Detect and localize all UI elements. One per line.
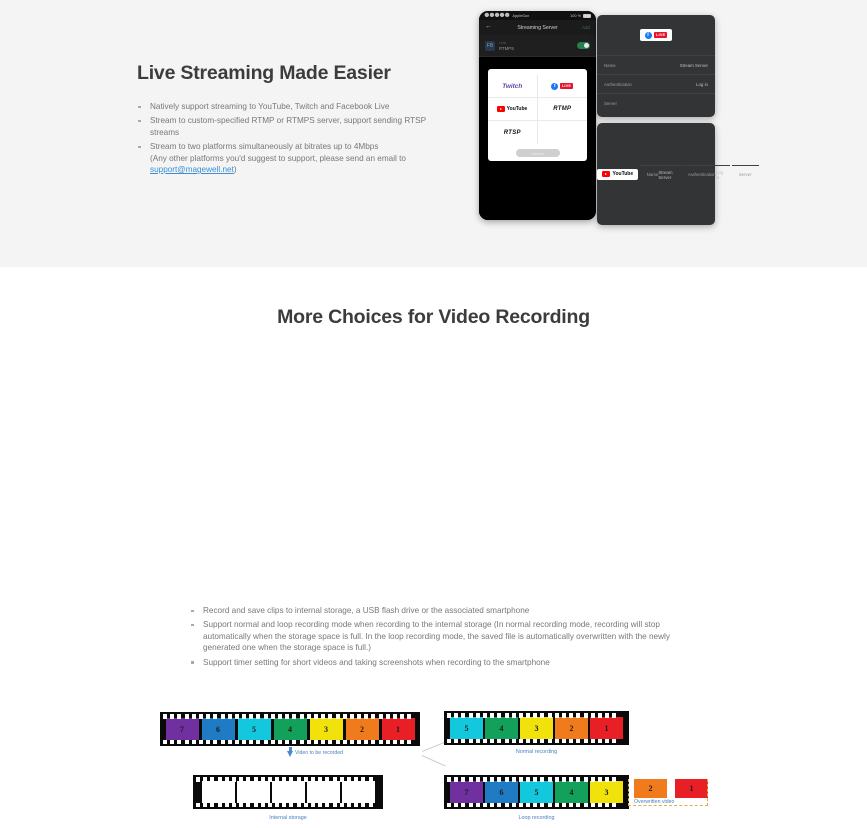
film-frame: 5 — [450, 717, 483, 739]
perforation-hole — [275, 803, 279, 808]
perforation-hole — [304, 803, 308, 808]
page-title: Live Streaming Made Easier — [137, 62, 457, 85]
perforation-hole — [232, 777, 236, 782]
film-frame: 7 — [450, 781, 483, 803]
perforation-hole — [249, 740, 253, 745]
film-frame: 2 — [346, 718, 379, 740]
film-frame: 3 — [590, 781, 623, 803]
perforation-hole — [533, 803, 537, 808]
perforation-hole — [271, 740, 275, 745]
perforation-hole — [354, 803, 358, 808]
perforation-hole — [533, 713, 537, 718]
facebook-settings-card: f LIVE Name Stream Server Authentication… — [597, 15, 715, 117]
internal-storage-caption: Internal storage — [193, 815, 383, 821]
youtube-wordmark: YouTube — [507, 106, 528, 112]
perforation-hole — [350, 714, 354, 719]
perforation-hole — [297, 803, 301, 808]
perforation-hole — [364, 740, 368, 745]
perforation-hole — [569, 739, 573, 744]
film-frame: 7 — [166, 718, 199, 740]
perforation-hole — [325, 777, 329, 782]
perforation-hole — [519, 713, 523, 718]
perforation-hole — [548, 739, 552, 744]
perforation-hole — [505, 739, 509, 744]
perforation-hole — [569, 713, 573, 718]
perforation-hole — [512, 777, 516, 782]
carrier-label: AppleGun — [513, 14, 530, 18]
perforation-hole — [328, 740, 332, 745]
battery-icon — [583, 14, 591, 18]
card-row-value: Stream Server — [680, 63, 708, 68]
perforation-hole — [228, 740, 232, 745]
perforation-hole — [246, 803, 250, 808]
perforation-hole — [476, 803, 480, 808]
perforation-hole — [469, 777, 473, 782]
facebook-icon: f — [551, 83, 558, 90]
video-recording-bullet-list: Record and save clips to internal storag… — [190, 605, 680, 671]
perforation-hole — [285, 714, 289, 719]
facebook-icon: FB — [485, 41, 495, 51]
platform-option-twitch[interactable]: Twitch — [488, 75, 538, 98]
perforation-hole — [256, 714, 260, 719]
perforation-hole — [461, 803, 465, 808]
facebook-live-logo: f LIVE — [551, 83, 573, 90]
perforation-hole — [400, 714, 404, 719]
perforation-hole — [357, 740, 361, 745]
normal-recording-film-strip: 54321 — [444, 711, 629, 745]
film-frame: 3 — [520, 717, 553, 739]
perforation-hole — [454, 713, 458, 718]
list-item: Support timer setting for short videos a… — [190, 657, 680, 668]
film-frame: 6 — [202, 718, 235, 740]
perforation-hole — [318, 803, 322, 808]
perforation-hole — [357, 714, 361, 719]
perforation-hole — [483, 713, 487, 718]
perforation-hole — [343, 714, 347, 719]
perforation-hole — [314, 740, 318, 745]
perforation-hole — [393, 740, 397, 745]
perforation-hole — [278, 740, 282, 745]
perforation-hole — [576, 739, 580, 744]
card-logo-facebook: f LIVE — [597, 15, 715, 55]
perforation-hole — [249, 714, 253, 719]
perforation-hole — [490, 777, 494, 782]
perforation-hole — [605, 713, 609, 718]
perforation-hole — [540, 777, 544, 782]
perforation-hole — [225, 803, 229, 808]
perforation-hole — [333, 777, 337, 782]
perforation-hole — [289, 777, 293, 782]
perforation-hole — [177, 714, 181, 719]
perforation-hole — [364, 714, 368, 719]
perforation-hole — [605, 739, 609, 744]
perforation-hole — [612, 803, 616, 808]
perforation-hole — [170, 714, 174, 719]
perforation-hole — [271, 714, 275, 719]
perforation-hole — [192, 714, 196, 719]
live-badge: LIVE — [654, 32, 667, 38]
perforation-hole — [239, 777, 243, 782]
perforation-hole — [605, 803, 609, 808]
perforation-hole — [354, 777, 358, 782]
platform-option-empty — [538, 121, 588, 144]
platform-picker-sheet: Twitch f LIVE YouTube — [488, 69, 587, 161]
perforation-hole — [289, 803, 293, 808]
platform-option-rtmp[interactable]: RTMP — [538, 98, 588, 121]
film-frame: 1 — [590, 717, 623, 739]
perforation-hole — [246, 777, 250, 782]
perforation-hole — [361, 777, 365, 782]
perforation-hole — [512, 803, 516, 808]
perforation-hole — [461, 713, 465, 718]
youtube-play-icon — [497, 106, 505, 112]
perforation-hole — [261, 777, 265, 782]
perforation-hole — [196, 777, 200, 782]
phone-body: Twitch f LIVE YouTube — [479, 57, 596, 220]
perforation-hole — [555, 739, 559, 744]
perforation-hole — [254, 803, 258, 808]
perforation-hole — [447, 739, 451, 744]
perforation-hole — [307, 740, 311, 745]
perforation-hole — [407, 714, 411, 719]
perforation-hole — [555, 777, 559, 782]
perforation-hole — [235, 714, 239, 719]
platform-option-facebook-live[interactable]: f LIVE — [538, 75, 588, 98]
perforation-hole — [598, 777, 602, 782]
perforation-hole — [282, 777, 286, 782]
phone-nav-bar: ← Streaming Server Add — [479, 20, 596, 35]
perforation-hole — [221, 740, 225, 745]
film-frame: 4 — [485, 717, 518, 739]
bullet-note-prefix: (Any other platforms you'd suggest to su… — [150, 154, 406, 163]
perforation-hole — [206, 714, 210, 719]
perforation-hole — [379, 714, 383, 719]
film-frame: 1 — [382, 718, 415, 740]
perforation-hole — [591, 739, 595, 744]
perforation-row-top — [444, 777, 629, 782]
perforation-hole — [576, 777, 580, 782]
loop-recording-film-strip: 76543 — [444, 775, 629, 809]
perforation-hole — [185, 714, 189, 719]
perforation-hole — [199, 714, 203, 719]
perforation-hole — [483, 803, 487, 808]
perforation-hole — [519, 803, 523, 808]
platform-picker-grid: Twitch f LIVE YouTube — [488, 75, 587, 144]
film-frame — [272, 781, 305, 803]
perforation-hole — [347, 803, 351, 808]
perforation-hole — [548, 713, 552, 718]
stream-target-row[interactable]: FB Live RTMPS — [479, 35, 596, 57]
recording-diagram: 7654321 Video to be recorded Internal st… — [0, 699, 867, 828]
card-row-name[interactable]: Name Stream Server — [640, 165, 680, 184]
card-logo-youtube: YouTube — [597, 154, 638, 194]
perforation-hole — [505, 803, 509, 808]
platform-option-rtsp[interactable]: RTSP — [488, 121, 538, 144]
youtube-settings-card: YouTube Name Stream Server Authenticatio… — [597, 123, 715, 225]
perforation-hole — [476, 713, 480, 718]
perforation-hole — [490, 713, 494, 718]
film-frame — [202, 781, 235, 803]
perforation-hole — [476, 739, 480, 744]
perforation-hole — [461, 739, 465, 744]
perforation-hole — [203, 803, 207, 808]
youtube-logo: YouTube — [497, 106, 527, 112]
perforation-hole — [483, 739, 487, 744]
card-row-value[interactable]: Log in — [696, 82, 708, 87]
perforation-hole — [540, 739, 544, 744]
perforation-hole — [454, 803, 458, 808]
card-row-name[interactable]: Name Stream Server — [597, 55, 715, 74]
battery-percent-label: 100 % — [570, 14, 581, 18]
card-row-value[interactable]: Log in — [716, 170, 723, 180]
perforation-hole — [292, 714, 296, 719]
perforation-hole — [321, 714, 325, 719]
card-row-authentication[interactable]: Authentication Log in — [597, 74, 715, 93]
perforation-hole — [393, 714, 397, 719]
perforation-hole — [612, 739, 616, 744]
stream-target-subtitle: RTMPS — [499, 46, 514, 51]
nav-title: Streaming Server — [479, 25, 596, 31]
perforation-hole — [497, 777, 501, 782]
perforation-row-top — [444, 713, 629, 718]
stream-enable-toggle[interactable] — [577, 42, 590, 49]
perforation-hole — [379, 740, 383, 745]
facebook-live-logo-chip: f LIVE — [640, 29, 673, 41]
film-frame: 3 — [310, 718, 343, 740]
perforation-hole — [199, 740, 203, 745]
perforation-hole — [548, 803, 552, 808]
film-frame — [342, 781, 375, 803]
perforation-hole — [333, 803, 337, 808]
perforation-hole — [256, 740, 260, 745]
perforation-hole — [340, 803, 344, 808]
perforation-row-top — [160, 714, 420, 719]
perforation-hole — [206, 740, 210, 745]
connector-line-top — [422, 741, 446, 752]
film-frame: 4 — [274, 718, 307, 740]
youtube-wordmark: YouTube — [613, 171, 634, 177]
perforation-hole — [540, 713, 544, 718]
perforation-hole — [598, 739, 602, 744]
perforation-row-bottom — [193, 803, 383, 808]
perforation-hole — [490, 739, 494, 744]
perforation-hole — [386, 740, 390, 745]
perforation-hole — [469, 803, 473, 808]
perforation-hole — [282, 803, 286, 808]
video-recording-section: More Choices for Video Recording Record … — [0, 267, 867, 561]
perforation-hole — [340, 777, 344, 782]
perforation-hole — [297, 777, 301, 782]
arrow-label: Video to be recorded — [295, 750, 343, 756]
perforation-hole — [526, 777, 530, 782]
perforation-hole — [526, 713, 530, 718]
perforation-hole — [562, 713, 566, 718]
film-frame: 5 — [238, 718, 271, 740]
perforation-hole — [213, 740, 217, 745]
live-streaming-section: Live Streaming Made Easier Natively supp… — [0, 0, 867, 267]
perforation-hole — [497, 713, 501, 718]
perforation-hole — [569, 803, 573, 808]
perforation-hole — [192, 740, 196, 745]
perforation-hole — [533, 739, 537, 744]
perforation-hole — [325, 803, 329, 808]
perforation-hole — [505, 777, 509, 782]
perforation-hole — [584, 777, 588, 782]
film-frame: 4 — [555, 781, 588, 803]
live-badge: LIVE — [560, 83, 573, 89]
source-film-strip: 7654321 — [160, 712, 420, 746]
perforation-hole — [311, 777, 315, 782]
loop-recording-caption: Loop recording — [444, 815, 629, 821]
perforation-hole — [407, 740, 411, 745]
youtube-play-icon — [602, 171, 610, 177]
internal-storage-film-strip — [193, 775, 383, 809]
list-item: Stream to custom-specified RTMP or RTMPS… — [137, 115, 457, 138]
perforation-hole — [321, 740, 325, 745]
perforation-hole — [318, 777, 322, 782]
perforation-hole — [235, 740, 239, 745]
card-row-label: Authentication — [604, 82, 632, 87]
perforation-hole — [555, 803, 559, 808]
normal-recording-caption: Normal recording — [444, 749, 629, 755]
perforation-hole — [469, 739, 473, 744]
card-row-label: Name — [604, 63, 616, 68]
live-streaming-bullet-list: Natively support streaming to YouTube, T… — [137, 101, 457, 175]
card-row-server[interactable]: Server — [597, 93, 715, 112]
perforation-hole — [311, 803, 315, 808]
perforation-hole — [612, 777, 616, 782]
perforation-hole — [307, 714, 311, 719]
perforation-hole — [591, 803, 595, 808]
list-item: Natively support streaming to YouTube, T… — [137, 101, 457, 112]
phone-mockup: ••••• AppleGun 100 % ← Streaming Server … — [479, 11, 596, 220]
perforation-hole — [239, 803, 243, 808]
perforation-hole — [242, 740, 246, 745]
perforation-hole — [228, 714, 232, 719]
perforation-hole — [519, 777, 523, 782]
perforation-hole — [371, 740, 375, 745]
perforation-hole — [454, 739, 458, 744]
support-email-link[interactable]: support@magewell.net — [150, 165, 234, 174]
perforation-hole — [598, 713, 602, 718]
perforation-hole — [400, 740, 404, 745]
card-row-label: Server — [604, 101, 617, 106]
platform-option-youtube[interactable]: YouTube — [488, 98, 538, 121]
perforation-hole — [163, 740, 167, 745]
perforation-row-bottom — [444, 739, 629, 744]
facebook-icon: f — [645, 32, 652, 39]
perforation-hole — [225, 777, 229, 782]
youtube-logo-chip: YouTube — [597, 169, 638, 180]
perforation-hole — [562, 803, 566, 808]
perforation-hole — [490, 803, 494, 808]
perforation-hole — [232, 803, 236, 808]
perforation-hole — [278, 714, 282, 719]
perforation-hole — [386, 714, 390, 719]
record-arrow-icon — [287, 751, 293, 757]
perforation-hole — [369, 803, 373, 808]
perforation-hole — [185, 740, 189, 745]
perforation-hole — [371, 714, 375, 719]
perforation-hole — [242, 714, 246, 719]
perforation-hole — [343, 740, 347, 745]
card-row-authentication[interactable]: Authentication Log in — [681, 165, 730, 184]
perforation-hole — [221, 714, 225, 719]
perforation-hole — [264, 740, 268, 745]
perforation-hole — [292, 740, 296, 745]
perforation-hole — [576, 713, 580, 718]
cancel-button[interactable]: Cancel — [516, 149, 560, 157]
perforation-hole — [512, 739, 516, 744]
perforation-hole — [483, 777, 487, 782]
perforation-hole — [300, 714, 304, 719]
perforation-hole — [213, 714, 217, 719]
perforation-hole — [605, 777, 609, 782]
perforation-hole — [177, 740, 181, 745]
perforation-hole — [163, 714, 167, 719]
card-row-server[interactable]: Server — [732, 165, 759, 184]
film-frame: 2 — [555, 717, 588, 739]
perforation-hole — [526, 739, 530, 744]
bullet-text: Stream to two platforms simultaneously a… — [150, 142, 378, 151]
perforation-hole — [336, 714, 340, 719]
perforation-hole — [210, 803, 214, 808]
perforation-hole — [533, 777, 537, 782]
perforation-hole — [591, 713, 595, 718]
perforation-hole — [562, 777, 566, 782]
perforation-hole — [447, 803, 451, 808]
perforation-hole — [447, 713, 451, 718]
section-title: More Choices for Video Recording — [0, 267, 867, 329]
perforation-hole — [540, 803, 544, 808]
perforation-hole — [268, 803, 272, 808]
perforation-hole — [254, 777, 258, 782]
perforation-hole — [314, 714, 318, 719]
perforation-hole — [203, 777, 207, 782]
card-row-label: Name — [647, 172, 659, 177]
perforation-hole — [268, 777, 272, 782]
perforation-row-bottom — [160, 740, 420, 745]
perforation-hole — [350, 740, 354, 745]
stream-target-text: Live RTMPS — [499, 40, 514, 51]
perforation-hole — [347, 777, 351, 782]
status-right: 100 % — [570, 14, 591, 18]
perforation-hole — [584, 739, 588, 744]
perforation-hole — [369, 777, 373, 782]
rtsp-label: RTSP — [504, 130, 521, 136]
perforation-hole — [497, 803, 501, 808]
rtmp-label: RTMP — [553, 106, 571, 112]
perforation-hole — [526, 803, 530, 808]
perforation-hole — [336, 740, 340, 745]
perforation-row-bottom — [444, 803, 629, 808]
bullet-note-suffix: ) — [234, 165, 237, 174]
perforation-hole — [447, 777, 451, 782]
film-frame: 5 — [520, 781, 553, 803]
perforation-hole — [261, 803, 265, 808]
perforation-hole — [218, 777, 222, 782]
perforation-hole — [584, 803, 588, 808]
twitch-logo-icon: Twitch — [502, 83, 522, 90]
perforation-hole — [562, 739, 566, 744]
film-frame: 6 — [485, 781, 518, 803]
perforation-hole — [454, 777, 458, 782]
phone-status-bar: ••••• AppleGun 100 % — [479, 11, 596, 20]
perforation-hole — [285, 740, 289, 745]
perforation-hole — [512, 713, 516, 718]
connector-line-bottom — [422, 755, 446, 766]
perforation-hole — [300, 740, 304, 745]
